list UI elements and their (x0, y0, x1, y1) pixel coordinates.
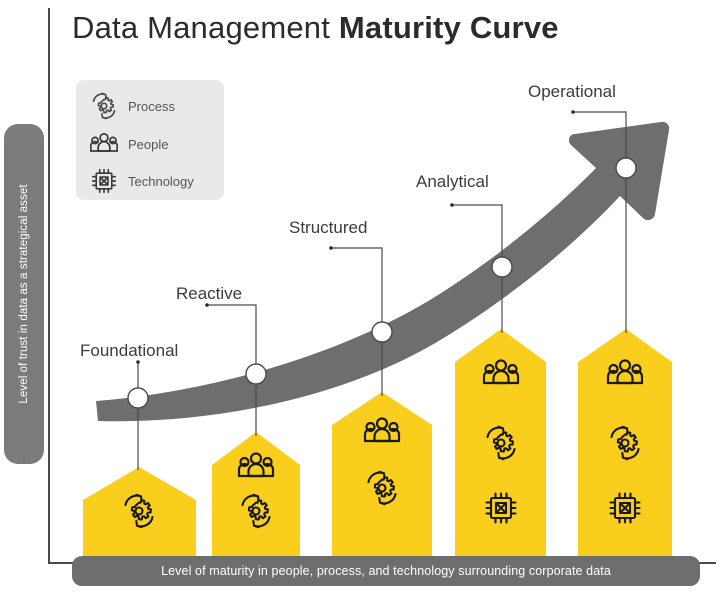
stage-label-reactive: Reactive (176, 284, 242, 304)
infographic-canvas: Data Management Maturity Curve Level of … (0, 0, 720, 600)
stage5-leader (573, 112, 626, 168)
stage3-leader-dot (329, 246, 333, 250)
people-icon (90, 130, 118, 158)
stage-label-structured: Structured (289, 218, 367, 238)
process-icon (90, 92, 118, 120)
stage4-marker (492, 257, 512, 277)
legend: Process People (76, 80, 224, 200)
legend-item-process: Process (90, 92, 175, 120)
technology-icon (90, 167, 118, 195)
x-axis-label-bar: Level of maturity in people, process, an… (72, 556, 700, 586)
stage-label-operational: Operational (528, 82, 616, 102)
stage4-leader-dot (450, 203, 454, 207)
legend-label-people: People (128, 137, 168, 152)
stage-label-foundational: Foundational (80, 341, 178, 361)
stage3-leader (331, 248, 382, 332)
stage4-leader (452, 205, 502, 267)
stage3-marker (372, 322, 392, 342)
legend-label-process: Process (128, 99, 175, 114)
legend-item-technology: Technology (90, 167, 194, 195)
stage-label-analytical: Analytical (416, 172, 489, 192)
stage2-marker (246, 364, 266, 384)
x-axis-label: Level of maturity in people, process, an… (161, 564, 611, 578)
stage2-leader (207, 305, 256, 374)
stage5-marker (616, 158, 636, 178)
stage1-marker (128, 388, 148, 408)
stage5-leader-dot (571, 110, 575, 114)
legend-item-people: People (90, 130, 168, 158)
legend-label-technology: Technology (128, 174, 194, 189)
